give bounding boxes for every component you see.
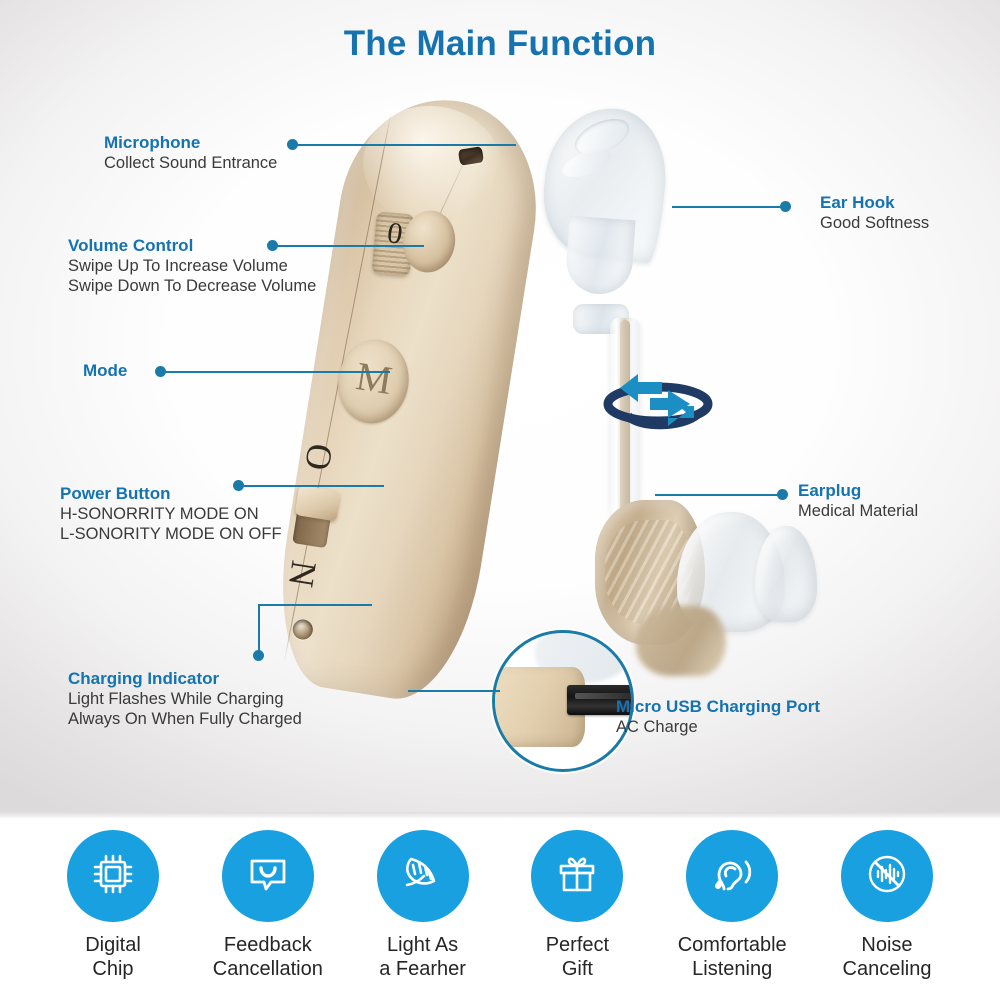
callout-ear-hook: Ear Hook Good Softness [820, 192, 929, 233]
leader-dot-microphone [287, 139, 298, 150]
callout-micro-usb-line-1: AC Charge [616, 717, 820, 737]
callout-charging-indicator-line-1: Light Flashes While Charging [68, 689, 302, 709]
feature-label-line-2: Chip [85, 957, 141, 981]
background-device-blurred [636, 606, 726, 676]
leader-dot-charging-indicator [253, 650, 264, 661]
feature-label: Noise Canceling [843, 933, 932, 981]
mode-button-marking: M [335, 348, 412, 408]
infographic-page: The Main Function [0, 0, 1000, 1000]
feature-icon-circle [222, 830, 314, 922]
gift-box-icon [552, 849, 602, 904]
leader-line-usb-inset [408, 690, 500, 692]
feature-noise-canceling[interactable]: Noise Canceling [816, 830, 958, 1000]
ear-sound-waves-icon [707, 849, 757, 904]
feather-icon [398, 849, 448, 904]
leader-line-charging-indicator-horizontal [258, 604, 372, 606]
leader-line-ear-hook [672, 206, 786, 208]
callout-power-button-heading: Power Button [60, 483, 282, 504]
feature-perfect-gift[interactable]: Perfect Gift [506, 830, 648, 1000]
leader-line-microphone [292, 144, 516, 146]
feature-label-line-2: a Fearher [379, 957, 466, 981]
callout-ear-hook-heading: Ear Hook [820, 192, 929, 213]
callout-power-button-line-1: H-SONORRITY MODE ON [60, 504, 282, 524]
feature-label-line-2: Listening [678, 957, 787, 981]
leader-dot-earplug [777, 489, 788, 500]
callout-micro-usb-heading: Micro USB Charging Port [616, 696, 820, 717]
callout-volume-control: Volume Control Swipe Up To Increase Volu… [68, 235, 316, 296]
feature-light-as-a-feather[interactable]: Light As a Fearher [352, 830, 494, 1000]
feature-label-line-2: Canceling [843, 957, 932, 981]
feedback-bubble-icon [243, 849, 293, 904]
micro-usb-inset-circle [492, 630, 634, 772]
feature-label-line-1: Noise [843, 933, 932, 957]
leader-line-earplug [655, 494, 783, 496]
callout-microphone-line-1: Collect Sound Entrance [104, 153, 277, 173]
callout-earplug: Earplug Medical Material [798, 480, 918, 521]
callout-power-button: Power Button H-SONORRITY MODE ON L-SONOR… [60, 483, 282, 544]
power-switch-knob[interactable] [295, 485, 341, 521]
leader-line-mode [160, 371, 390, 373]
hearing-aid-body: 0 M O N [247, 83, 568, 712]
feature-label: Feedback Cancellation [213, 933, 323, 981]
feature-label: Comfortable Listening [678, 933, 787, 981]
earplug-dome-small [755, 526, 817, 622]
feature-label-line-1: Digital [85, 933, 141, 957]
feature-label-line-2: Gift [546, 957, 609, 981]
callout-volume-control-line-2: Swipe Down To Decrease Volume [68, 276, 316, 296]
callout-microphone: Microphone Collect Sound Entrance [104, 132, 277, 173]
leader-dot-mode [155, 366, 166, 377]
ear-hook-elbow [564, 216, 635, 296]
callout-earplug-heading: Earplug [798, 480, 918, 501]
callout-earplug-line-1: Medical Material [798, 501, 918, 521]
callout-mode: Mode [83, 360, 127, 381]
callout-charging-indicator-line-2: Always On When Fully Charged [68, 709, 302, 729]
leader-line-charging-indicator-vertical [258, 604, 260, 654]
volume-wheel-marking: 0 [377, 215, 412, 253]
feature-label: Perfect Gift [546, 933, 609, 981]
callout-ear-hook-line-1: Good Softness [820, 213, 929, 233]
feature-row: Digital Chip Feedback Cancellation [0, 830, 1000, 1000]
callout-volume-control-heading: Volume Control [68, 235, 316, 256]
feature-icon-circle [377, 830, 469, 922]
rotation-arrows-icon [598, 372, 718, 432]
feature-icon-circle [531, 830, 623, 922]
callout-mode-heading: Mode [83, 360, 127, 381]
callout-charging-indicator-heading: Charging Indicator [68, 668, 302, 689]
callout-micro-usb: Micro USB Charging Port AC Charge [616, 696, 820, 737]
feature-label-line-1: Feedback [213, 933, 323, 957]
feature-digital-chip[interactable]: Digital Chip [42, 830, 184, 1000]
digital-chip-icon [88, 849, 138, 904]
feature-label-line-1: Light As [379, 933, 466, 957]
feature-label: Light As a Fearher [379, 933, 466, 981]
feature-label: Digital Chip [85, 933, 141, 981]
feature-icon-circle [841, 830, 933, 922]
feature-icon-circle [67, 830, 159, 922]
feature-label-line-2: Cancellation [213, 957, 323, 981]
feature-comfortable-listening[interactable]: Comfortable Listening [661, 830, 803, 1000]
feature-icon-circle [686, 830, 778, 922]
leader-dot-ear-hook [780, 201, 791, 212]
callout-charging-indicator: Charging Indicator Light Flashes While C… [68, 668, 302, 729]
callout-volume-control-line-1: Swipe Up To Increase Volume [68, 256, 316, 276]
callout-power-button-line-2: L-SONORITY MODE ON OFF [60, 524, 282, 544]
feature-label-line-1: Comfortable [678, 933, 787, 957]
noise-canceling-icon [862, 849, 912, 904]
feature-feedback-cancellation[interactable]: Feedback Cancellation [197, 830, 339, 1000]
feature-label-line-1: Perfect [546, 933, 609, 957]
callout-microphone-heading: Microphone [104, 132, 277, 153]
